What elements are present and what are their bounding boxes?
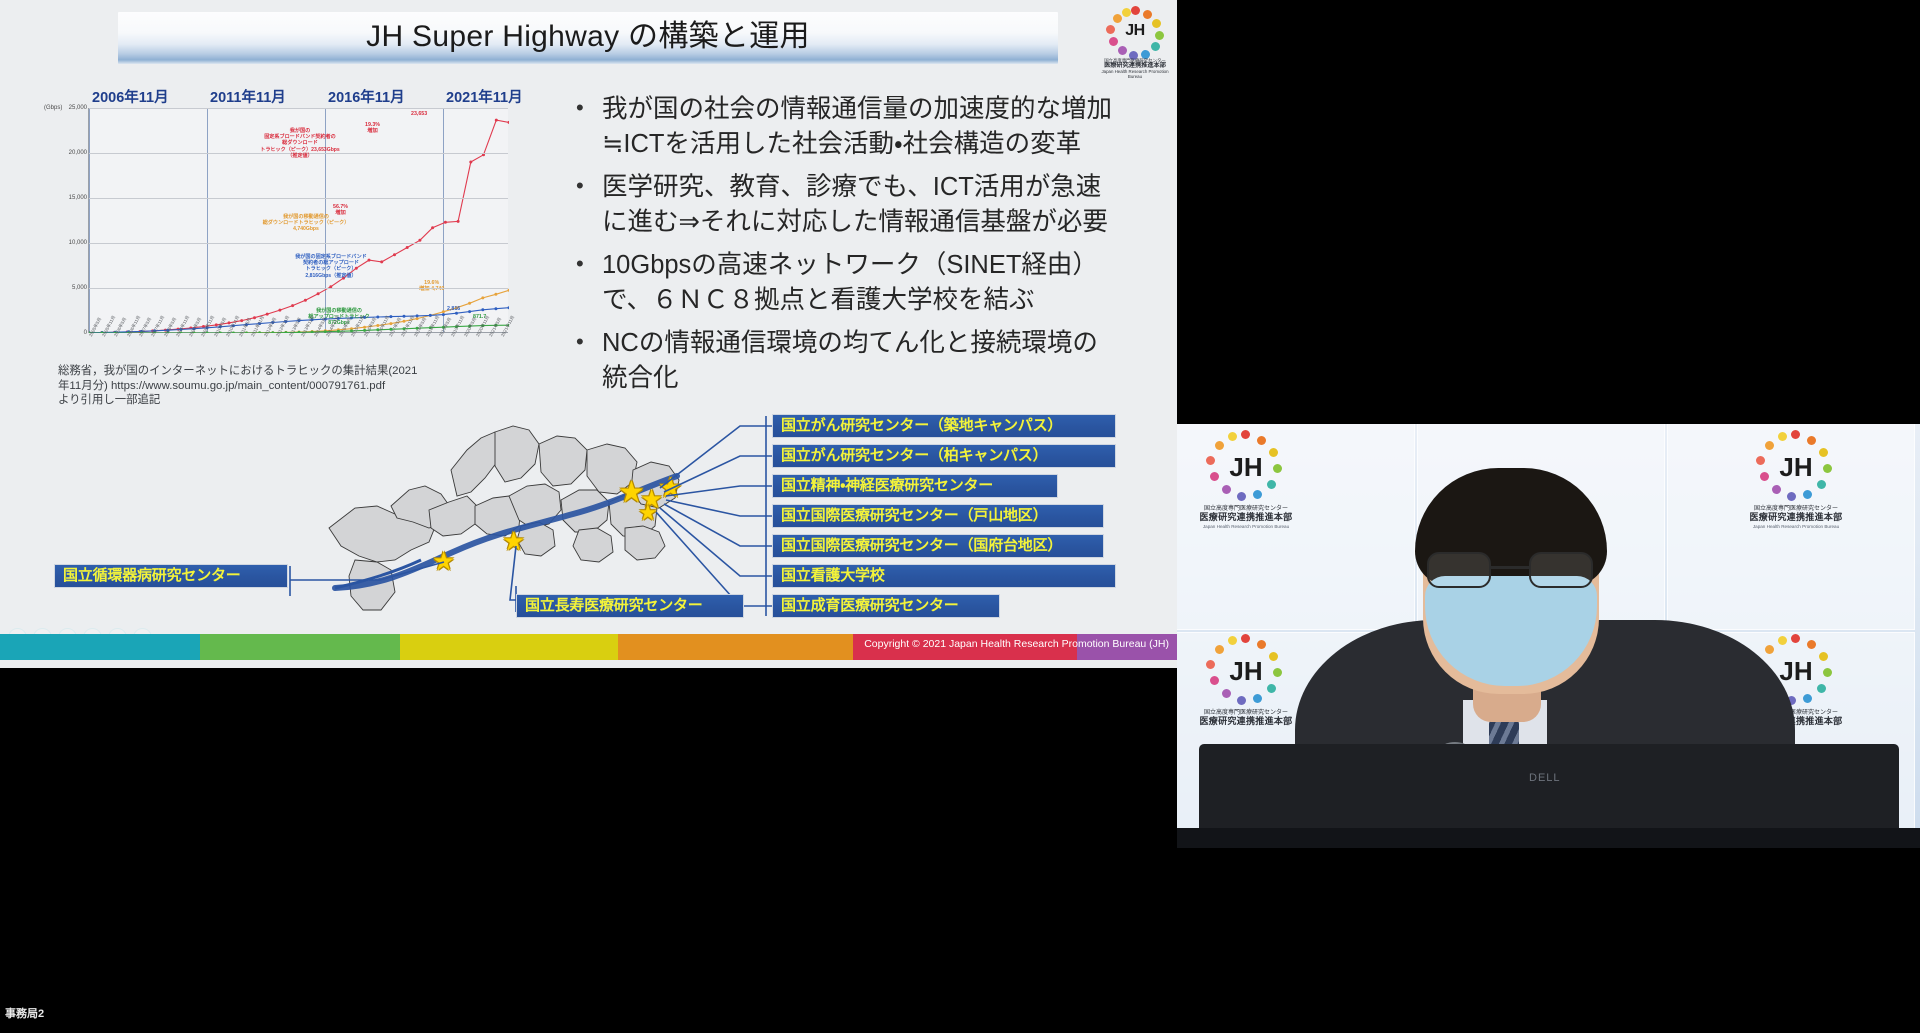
bullet-1-line-2: ≒ICTを活用した社会活動・社会構造の変革 xyxy=(602,130,1081,158)
bullet-3-line-2: で、６ＮＣ８拠点と看護大学校を結ぶ xyxy=(602,286,1034,314)
bullet-4-line-2: 統合化 xyxy=(602,364,679,392)
bullet-2-line-1: 医学研究、教育、診療でも、ICT活用が急速 xyxy=(602,173,1101,201)
chart-point xyxy=(444,221,447,224)
footer-segment-green xyxy=(200,634,400,660)
chart-point xyxy=(508,306,510,309)
chart-y-tick: 0 xyxy=(84,330,87,336)
footer-segment-teal xyxy=(0,634,200,660)
chart-growth-19-3: 19.3%増加 xyxy=(365,122,380,134)
jh-caption-sub: Japan Health Research Promotion Bureau xyxy=(1096,69,1174,80)
map-star-nagoya: ★ xyxy=(502,528,525,554)
map-label-ncc-tsukiji[interactable]: 国立がん研究センター（築地キャンパス） xyxy=(772,414,1116,438)
chart-point xyxy=(418,239,421,242)
chart-gridline xyxy=(89,198,508,199)
chart-point xyxy=(494,293,497,296)
chart-callout-mobile-download: 我が国の移動通信の総ダウンロードトラヒック（ピーク）4,740Gbps xyxy=(248,214,364,233)
copyright-text: Copyright © 2021 Japan Health Research P… xyxy=(864,638,1169,650)
chart-gridline xyxy=(89,243,508,244)
chart-point xyxy=(317,292,320,295)
laptop-brand-label: DELL xyxy=(1529,772,1561,784)
backdrop-logo-3: JH 国立高度専門医療研究センター 医療研究連携推進本部 xyxy=(1187,634,1305,727)
chart-y-tick: 25,000 xyxy=(69,105,87,111)
map-label-ncchd[interactable]: 国立成育医療研究センター xyxy=(772,594,1000,618)
chart-point xyxy=(455,312,458,315)
map-label-nursing-college[interactable]: 国立看護大学校 xyxy=(772,564,1116,588)
era-label-2021: 2021年11月 xyxy=(446,86,523,107)
map-star-osaka: ★ xyxy=(432,548,455,574)
chart-y-tick: 20,000 xyxy=(69,150,87,156)
map-label-ncnp[interactable]: 国立精神・神経医療研究センター xyxy=(772,474,1058,498)
backdrop-logo-mark-2: JH xyxy=(1755,452,1837,483)
chart-callout-fixed-upload: 我が国の固定系ブロードバンド契約者の総アップロードトラヒック（ピーク）2,816… xyxy=(272,254,390,279)
source-line-2: 年11月分) https://www.soumu.go.jp/main_cont… xyxy=(58,379,488,394)
bullet-item-2: 医学研究、教育、診療でも、ICT活用が急速 に進む⇒それに対応した情報通信基盤が… xyxy=(566,170,1166,240)
jh-logo-caption: 国立高度専門医療研究センター 医療研究連携推進本部 Japan Health R… xyxy=(1096,58,1174,80)
chart-point xyxy=(481,308,484,311)
backdrop-logo-caption-1: 国立高度専門医療研究センター 医療研究連携推進本部 Japan Health R… xyxy=(1187,506,1305,532)
bullet-item-4: NCの情報通信環境の均てん化と接続環境の 統合化 xyxy=(566,326,1166,396)
era-label-2006: 2006年11月 xyxy=(92,86,169,107)
chart-point xyxy=(403,315,406,318)
chart-unit-label: (Gbps) xyxy=(44,105,62,111)
chart-point xyxy=(266,313,269,316)
backdrop-line-main-2: 医療研究連携推進本部 xyxy=(1749,512,1842,522)
traffic-chart: (Gbps) 2006年11月 2011年11月 2016年11月 2021年1… xyxy=(42,86,562,356)
chart-point xyxy=(508,121,510,124)
chart-gridline xyxy=(89,108,508,109)
chart-point xyxy=(469,161,472,164)
backdrop-logo-caption-2: 国立高度専門医療研究センター 医療研究連携推進本部 Japan Health R… xyxy=(1737,506,1855,532)
chart-point xyxy=(304,299,307,302)
source-line-1: 総務省，我が国のインターネットにおけるトラヒックの集計結果(2021 xyxy=(58,364,488,379)
chart-point xyxy=(495,119,498,122)
chart-point xyxy=(457,220,460,223)
bullet-item-3: 10Gbpsの高速ネットワーク（SINET経由） で、６ＮＣ８拠点と看護大学校を… xyxy=(566,248,1166,318)
jh-logo-ring: JH xyxy=(1105,6,1165,60)
chart-y-tick: 15,000 xyxy=(69,195,87,201)
jh-logo: JH 国立高度専門医療研究センター 医療研究連携推進本部 Japan Healt… xyxy=(1096,4,1174,76)
bullet-4-line-1: NCの情報通信環境の均てん化と接続環境の xyxy=(602,329,1098,357)
chart-gridline xyxy=(89,288,508,289)
chart-point xyxy=(508,289,510,292)
backdrop-line-main-3: 医療研究連携推進本部 xyxy=(1199,716,1292,726)
presentation-slide: JH Super Highway の構築と運用 JH 国立高度専門医療研究センタ… xyxy=(0,0,1177,668)
chart-value-23653: 23,653 xyxy=(411,111,427,117)
map-star-tokyo-3: ★ xyxy=(658,474,683,502)
map-label-ncgm-kounodai[interactable]: 国立国際医療研究センター（国府台地区） xyxy=(772,534,1104,558)
chart-point xyxy=(468,310,471,313)
chart-point xyxy=(481,296,484,299)
viewer-name-label: 事務局2 xyxy=(5,1005,44,1021)
bullet-1-line-1: 我が国の社会の情報通信量の加速度的な増加 xyxy=(602,95,1112,123)
chart-y-tick: 5,000 xyxy=(72,285,87,291)
era-label-2016: 2016年11月 xyxy=(328,86,405,107)
chart-y-tick: 10,000 xyxy=(69,240,87,246)
bullet-item-1: 我が国の社会の情報通信量の加速度的な増加 ≒ICTを活用した社会活動・社会構造の… xyxy=(566,92,1166,162)
laptop-lid xyxy=(1199,744,1899,834)
backdrop-logo-1: JH 国立高度専門医療研究センター 医療研究連携推進本部 Japan Healt… xyxy=(1187,430,1305,532)
chart-point xyxy=(406,246,409,249)
chart-point xyxy=(393,253,396,256)
backdrop-logo-2: JH 国立高度専門医療研究センター 医療研究連携推進本部 Japan Healt… xyxy=(1737,430,1855,532)
era-label-2011: 2011年11月 xyxy=(210,86,286,107)
speaker-video-panel[interactable]: JH 国立高度専門医療研究センター 医療研究連携推進本部 Japan Healt… xyxy=(1177,424,1920,848)
chart-point xyxy=(253,316,256,319)
map-star-tokyo-4: ★ xyxy=(638,502,658,524)
page-title: JH Super Highway の構築と運用 xyxy=(118,14,1058,60)
backdrop-line-sub-1: Japan Health Research Promotion Bureau xyxy=(1203,524,1289,529)
chart-point xyxy=(429,314,432,317)
jh-logo-mark: JH xyxy=(1105,22,1165,40)
eyeglasses xyxy=(1427,552,1593,588)
japan-network-map: ★ ★ ★ ★ ★ ★ xyxy=(40,400,1160,635)
backdrop-logo-mark-1: JH xyxy=(1205,452,1287,483)
backdrop-logo-caption-3: 国立高度専門医療研究センター 医療研究連携推進本部 xyxy=(1187,710,1305,727)
chart-point xyxy=(291,304,294,307)
bullet-2-line-2: に進む⇒それに対応した情報通信基盤が必要 xyxy=(602,208,1108,236)
backdrop-line-main-1: 医療研究連携推進本部 xyxy=(1199,512,1292,522)
backdrop-logo-mark-3: JH xyxy=(1205,656,1287,687)
footer-segment-yellow xyxy=(400,634,618,660)
bullet-list: 我が国の社会の情報通信量の加速度的な増加 ≒ICTを活用した社会活動・社会構造の… xyxy=(566,92,1166,404)
map-label-ncc-kashiwa[interactable]: 国立がん研究センター（柏キャンパス） xyxy=(772,444,1116,468)
laptop-base xyxy=(1177,828,1920,848)
chart-point xyxy=(442,313,445,316)
chart-point xyxy=(494,307,497,310)
map-label-ncgg[interactable]: 国立長寿医療研究センター xyxy=(516,594,744,618)
chart-point xyxy=(468,302,471,305)
map-label-ncvc[interactable]: 国立循環器病研究センター xyxy=(54,564,288,588)
chart-point xyxy=(240,319,243,322)
screen-root: JH Super Highway の構築と運用 JH 国立高度専門医療研究センタ… xyxy=(0,0,1920,1033)
bullet-3-line-1: 10Gbpsの高速ネットワーク（SINET経由） xyxy=(602,251,1098,279)
chart-growth-19-6-mobile: 19.6%増加 4,740 xyxy=(419,280,444,292)
chart-callout-fixed-download: 我が国の固定系ブロードバンド契約者の総ダウンロードトラヒック（ピーク）23,65… xyxy=(240,128,360,159)
footer-segment-orange xyxy=(618,634,853,660)
chart-point xyxy=(403,320,406,323)
chart-point xyxy=(431,226,434,229)
chart-era-labels: 2006年11月 2011年11月 2016年11月 2021年11月 xyxy=(88,86,562,106)
chart-value-2816: 2,816 xyxy=(447,306,460,312)
map-label-ncgm-toyama[interactable]: 国立国際医療研究センター（戸山地区） xyxy=(772,504,1104,528)
chart-point xyxy=(442,310,445,313)
backdrop-line-sub-2: Japan Health Research Promotion Bureau xyxy=(1753,524,1839,529)
